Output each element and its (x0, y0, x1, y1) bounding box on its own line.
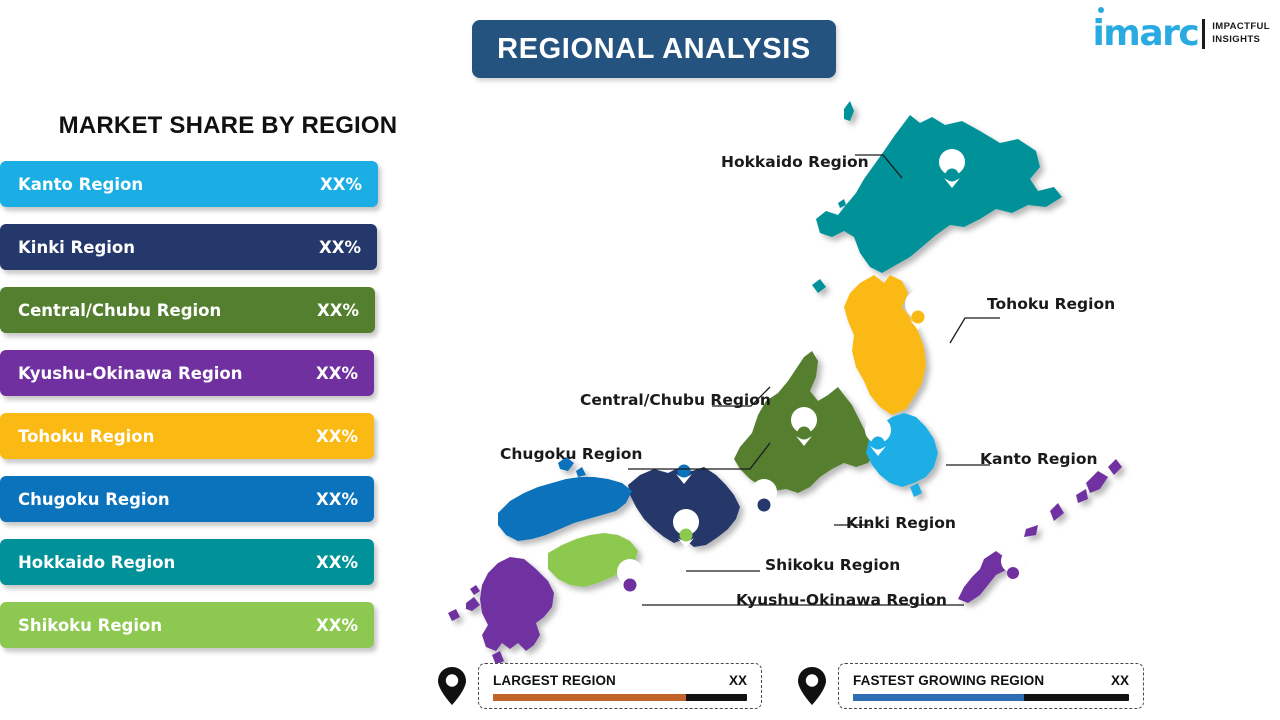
region-bar-value: XX% (320, 175, 362, 194)
logo-divider (1202, 19, 1205, 49)
region-bar-tohoku[interactable]: Tohoku Region XX% (0, 413, 374, 459)
fastest-region-box: FASTEST GROWING REGION XX (838, 663, 1144, 709)
largest-region-title: LARGEST REGION (493, 673, 616, 688)
map-label-central-chubu: Central/Chubu Region (580, 391, 771, 409)
region-bar-label: Kanto Region (18, 175, 143, 194)
largest-region-value: XX (729, 673, 747, 688)
region-bar-chugoku[interactable]: Chugoku Region XX% (0, 476, 374, 522)
region-bar-label: Tohoku Region (18, 427, 154, 446)
region-bar-value: XX% (319, 238, 361, 257)
region-bar-value: XX% (316, 490, 358, 509)
largest-region-track (493, 694, 747, 701)
map-region-chugoku[interactable] (498, 457, 632, 541)
region-bar-label: Central/Chubu Region (18, 301, 221, 320)
map-region-okinawa[interactable] (958, 459, 1122, 603)
region-bar-value: XX% (316, 616, 358, 635)
region-bar-list: Kanto Region XX% Kinki Region XX% Centra… (0, 161, 450, 648)
map-region-hokkaido[interactable] (812, 101, 1062, 293)
location-pin-icon (436, 665, 468, 707)
region-bar-hokkaido[interactable]: Hokkaido Region XX% (0, 539, 374, 585)
region-bar-kyushu-okinawa[interactable]: Kyushu-Okinawa Region XX% (0, 350, 374, 396)
map-region-kyushu[interactable] (448, 557, 554, 665)
logo-wordmark-text: imarc (1092, 13, 1198, 54)
map-label-tohoku: Tohoku Region (987, 295, 1115, 313)
region-bar-value: XX% (316, 427, 358, 446)
region-bar-label: Kyushu-Okinawa Region (18, 364, 243, 383)
fastest-region-track (853, 694, 1129, 701)
region-bar-value: XX% (316, 553, 358, 572)
region-bar-shikoku[interactable]: Shikoku Region XX% (0, 602, 374, 648)
logo-tagline: IMPACTFUL INSIGHTS (1212, 21, 1270, 47)
imarc-logo: imarc IMPACTFUL INSIGHTS (1092, 12, 1270, 56)
map-label-kyushu-okinawa: Kyushu-Okinawa Region (736, 591, 947, 609)
map-label-shikoku: Shikoku Region (765, 556, 900, 574)
logo-tagline-line2: INSIGHTS (1212, 34, 1270, 47)
region-bar-label: Hokkaido Region (18, 553, 175, 572)
map-pin-okinawa[interactable] (1001, 549, 1025, 585)
largest-region-fill (493, 694, 686, 701)
fastest-region-fill (853, 694, 1024, 701)
map-label-chugoku: Chugoku Region (500, 445, 642, 463)
map-label-kinki: Kinki Region (846, 514, 956, 532)
fastest-region-value: XX (1111, 673, 1129, 688)
market-share-panel: MARKET SHARE BY REGION Kanto Region XX% … (0, 112, 450, 665)
map-label-kanto: Kanto Region (980, 450, 1098, 468)
fastest-region-title: FASTEST GROWING REGION (853, 673, 1044, 688)
japan-region-map: Hokkaido Region Tohoku Region Central/Ch… (440, 95, 1280, 665)
slide-regional-analysis: REGIONAL ANALYSIS imarc IMPACTFUL INSIGH… (0, 0, 1280, 720)
map-pin-kyushu[interactable] (617, 559, 643, 598)
page-title: REGIONAL ANALYSIS (497, 33, 811, 66)
market-share-heading: MARKET SHARE BY REGION (18, 112, 438, 140)
largest-region-legend: LARGEST REGION XX (436, 662, 762, 710)
map-pin-kinki[interactable] (751, 479, 777, 518)
region-bar-label: Kinki Region (18, 238, 135, 257)
map-label-hokkaido: Hokkaido Region (721, 153, 869, 171)
largest-region-box: LARGEST REGION XX (478, 663, 762, 709)
page-title-banner: REGIONAL ANALYSIS (472, 20, 836, 78)
region-bar-value: XX% (317, 301, 359, 320)
logo-tagline-line1: IMPACTFUL (1212, 21, 1270, 34)
region-bar-value: XX% (316, 364, 358, 383)
fastest-region-legend: FASTEST GROWING REGION XX (796, 662, 1144, 710)
region-bar-kinki[interactable]: Kinki Region XX% (0, 224, 377, 270)
logo-wordmark: imarc (1092, 16, 1198, 52)
region-bar-label: Shikoku Region (18, 616, 162, 635)
region-bar-kanto[interactable]: Kanto Region XX% (0, 161, 378, 207)
region-bar-label: Chugoku Region (18, 490, 170, 509)
region-bar-central-chubu[interactable]: Central/Chubu Region XX% (0, 287, 375, 333)
japan-map-svg (440, 95, 1280, 665)
location-pin-icon (796, 665, 828, 707)
